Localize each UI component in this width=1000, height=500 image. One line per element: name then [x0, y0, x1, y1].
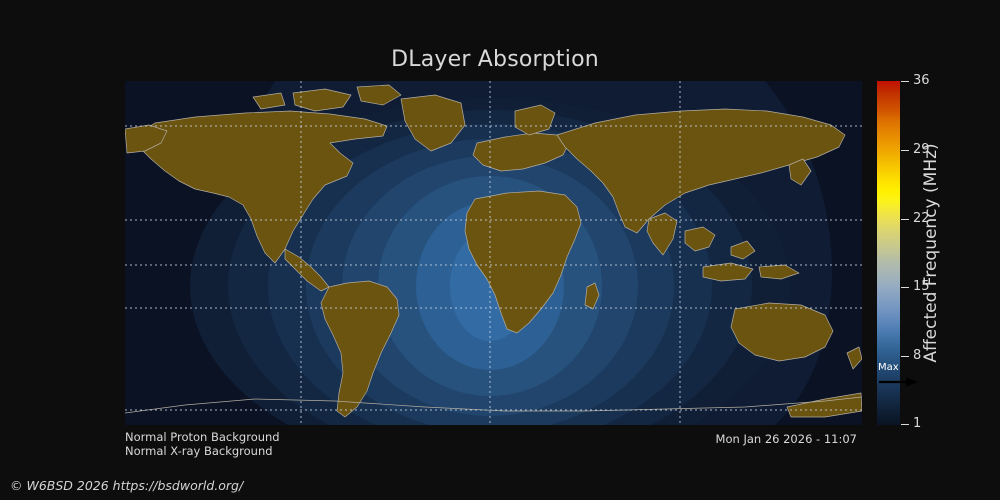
timestamp: Mon Jan 26 2026 - 11:07 — [0, 432, 857, 446]
max-marker: Max — [878, 362, 922, 390]
page-title: DLayer Absorption — [0, 47, 990, 73]
world-map-plot[interactable] — [125, 81, 862, 425]
colorbar-tick-36 — [901, 81, 909, 82]
dlayer-absorption-figure: DLayer Absorption — [0, 0, 1000, 500]
colorbar-tick-29 — [901, 150, 909, 151]
copyright-notice: © W6BSD 2026 https://bsdworld.org/ — [10, 478, 243, 493]
map-svg — [125, 81, 862, 425]
colorbar-tick-8 — [901, 356, 909, 357]
max-arrow-icon — [878, 376, 920, 388]
colorbar-tick-1 — [901, 424, 909, 425]
colorbar-axis-title: Affected Frequency (MHz) — [920, 81, 942, 425]
note-xray-background: Normal X-ray Background — [125, 444, 273, 458]
colorbar-tick-22 — [901, 219, 909, 220]
max-marker-label: Max — [878, 362, 899, 373]
colorbar-tick-15 — [901, 287, 909, 288]
